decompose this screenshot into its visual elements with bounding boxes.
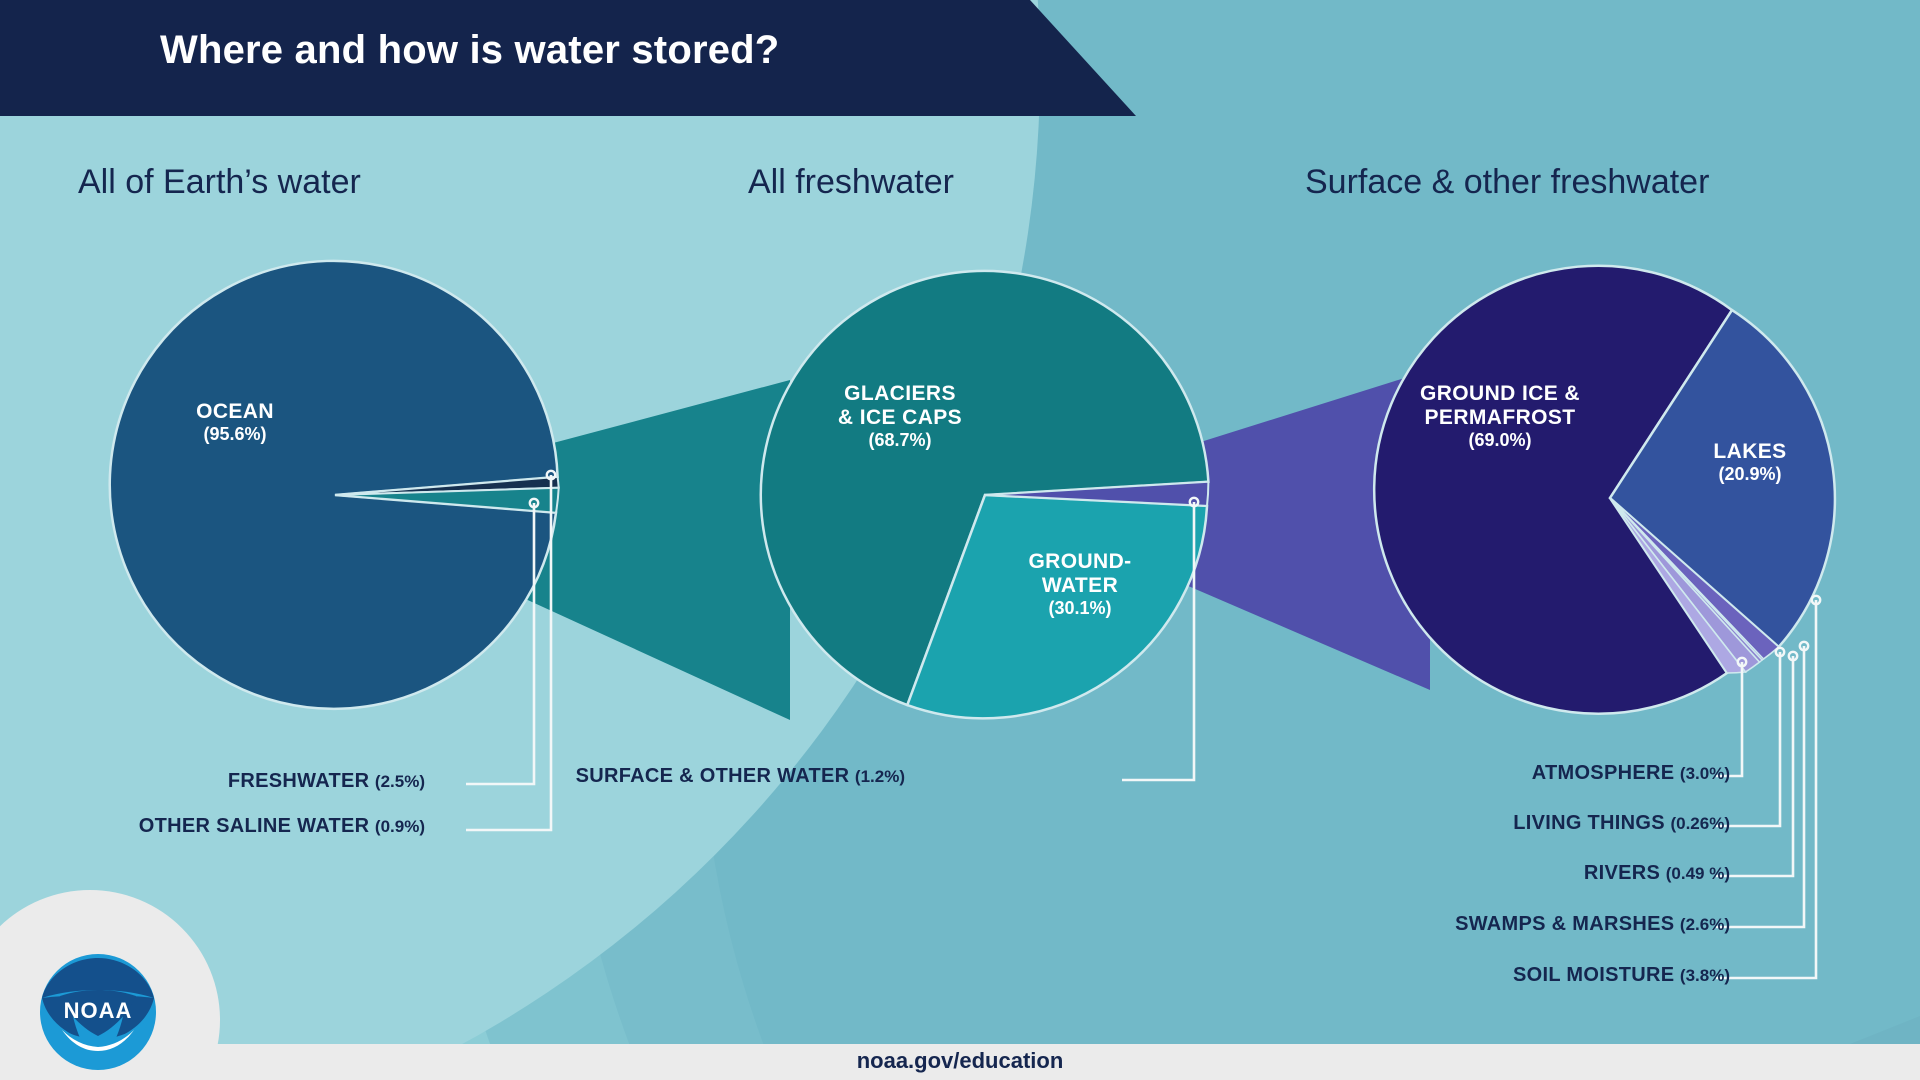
pie-chart-surface-other-freshwater xyxy=(1380,268,1840,728)
callout-freshwater-pct: (2.5%) xyxy=(375,772,425,791)
callout-rivers-pct: (0.49 %) xyxy=(1666,864,1730,883)
callout-soil-moisture-name: SOIL MOISTURE xyxy=(1513,964,1674,986)
callout-living-things-name: LIVING THINGS xyxy=(1513,812,1665,834)
footer-bar: noaa.gov/education xyxy=(0,1044,1920,1080)
pie-chart-all-earth-water xyxy=(105,265,565,725)
callout-swamps-pct: (2.6%) xyxy=(1680,915,1730,934)
callout-surface-other-pct: (1.2%) xyxy=(855,767,905,786)
noaa-logo: NOAA xyxy=(38,952,158,1072)
callout-soil-moisture: SOIL MOISTURE (3.8%) xyxy=(1513,964,1730,987)
callout-soil-moisture-pct: (3.8%) xyxy=(1680,966,1730,985)
callout-rivers: RIVERS (0.49 %) xyxy=(1584,862,1730,885)
callout-other-saline-name: OTHER SALINE WATER xyxy=(139,815,370,837)
callout-freshwater: FRESHWATER (2.5%) xyxy=(228,770,425,793)
pie-chart-all-freshwater xyxy=(755,265,1215,725)
callout-atmosphere-name: ATMOSPHERE xyxy=(1532,762,1675,784)
callout-other-saline-pct: (0.9%) xyxy=(375,817,425,836)
callout-living-things: LIVING THINGS (0.26%) xyxy=(1513,812,1730,835)
column-heading-all-freshwater: All freshwater xyxy=(748,163,954,202)
callout-freshwater-name: FRESHWATER xyxy=(228,770,370,792)
infographic-canvas: Where and how is water stored? All of Ea… xyxy=(0,0,1920,1080)
callout-living-things-pct: (0.26%) xyxy=(1670,814,1730,833)
column-heading-surface-other-freshwater: Surface & other freshwater xyxy=(1305,163,1709,202)
callout-atmosphere: ATMOSPHERE (3.0%) xyxy=(1532,762,1730,785)
callout-other-saline-water: OTHER SALINE WATER (0.9%) xyxy=(139,815,425,838)
noaa-logo-text: NOAA xyxy=(64,998,133,1023)
callout-swamps-name: SWAMPS & MARSHES xyxy=(1455,913,1674,935)
page-title: Where and how is water stored? xyxy=(160,28,779,73)
callout-atmosphere-pct: (3.0%) xyxy=(1680,764,1730,783)
callout-swamps-marshes: SWAMPS & MARSHES (2.6%) xyxy=(1455,913,1730,936)
callout-surface-other-name: SURFACE & OTHER WATER xyxy=(576,765,850,787)
header-banner: Where and how is water stored? xyxy=(0,0,1160,116)
column-heading-all-earth-water: All of Earth’s water xyxy=(78,163,361,202)
callout-rivers-name: RIVERS xyxy=(1584,862,1660,884)
callout-surface-other-water: SURFACE & OTHER WATER (1.2%) xyxy=(576,765,905,788)
footer-url[interactable]: noaa.gov/education xyxy=(0,1048,1920,1074)
